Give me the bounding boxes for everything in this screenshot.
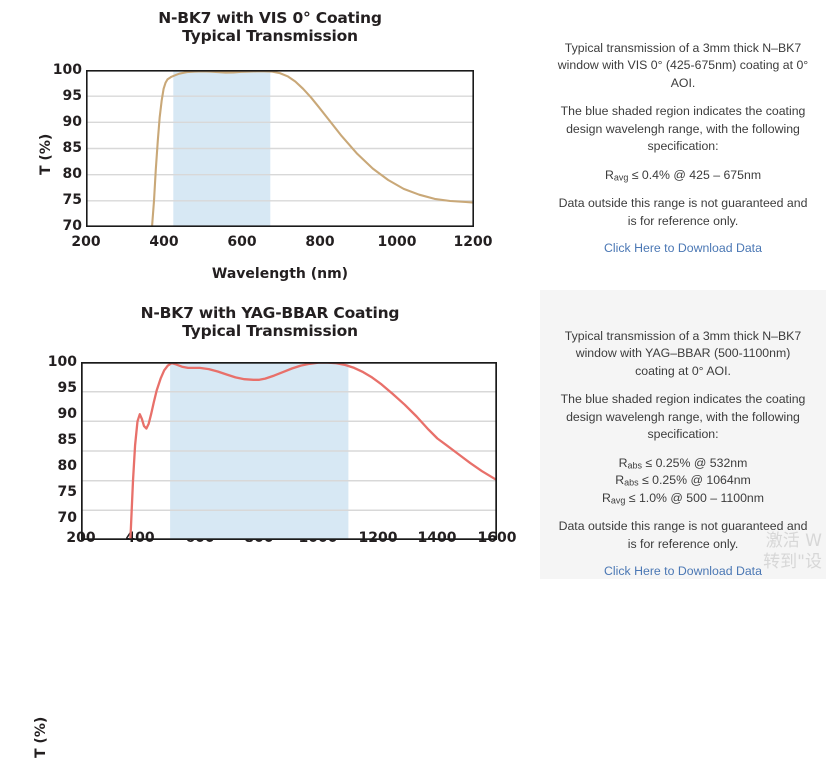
plot-area-yag bbox=[81, 362, 497, 540]
y-tick-70: 70 bbox=[45, 510, 77, 526]
spec-item: Rabs ≤ 0.25% @ 1064nm bbox=[602, 472, 764, 489]
info-paragraph-3-yag: Data outside this range is not guarantee… bbox=[556, 518, 810, 553]
spec-item: Ravg ≤ 1.0% @ 500 – 1100nm bbox=[602, 490, 764, 507]
download-data-link-vis[interactable]: Click Here to Download Data bbox=[604, 241, 762, 255]
y-tick-85: 85 bbox=[50, 140, 82, 156]
x-tick-600: 600 bbox=[216, 234, 268, 250]
plot-area-vis bbox=[86, 70, 474, 227]
spec-value: ≤ 1.0% @ 500 – 1100nm bbox=[625, 491, 764, 505]
chart-title-line1: N-BK7 with VIS 0° Coating bbox=[0, 10, 540, 28]
y-tick-90: 90 bbox=[45, 406, 77, 422]
spec-subscript: abs bbox=[627, 460, 642, 470]
y-tick-75: 75 bbox=[50, 192, 82, 208]
chart-title-line1: N-BK7 with YAG-BBAR Coating bbox=[0, 305, 540, 323]
x-tick-1200: 1200 bbox=[447, 234, 499, 250]
spec-list-vis: Ravg ≤ 0.4% @ 425 – 675nm bbox=[605, 167, 761, 184]
x-tick-400: 400 bbox=[138, 234, 190, 250]
spec-value: ≤ 0.4% @ 425 – 675nm bbox=[628, 168, 761, 182]
chart-title-yag: N-BK7 with YAG-BBAR Coating Typical Tran… bbox=[0, 305, 540, 341]
y-tick-85: 85 bbox=[45, 432, 77, 448]
info-panel-vis: Typical transmission of a 3mm thick N–BK… bbox=[540, 0, 826, 290]
panel-yag-bbar-coating: N-BK7 with YAG-BBAR Coating Typical Tran… bbox=[0, 290, 826, 579]
y-tick-80: 80 bbox=[50, 166, 82, 182]
spec-symbol: R bbox=[605, 168, 614, 182]
transmission-charts-page: N-BK7 with VIS 0° Coating Typical Transm… bbox=[0, 0, 826, 579]
panel-vis-coating: N-BK7 with VIS 0° Coating Typical Transm… bbox=[0, 0, 826, 290]
chart-title-line2: Typical Transmission bbox=[0, 323, 540, 341]
spec-symbol: R bbox=[615, 473, 624, 487]
watermark-line2: 转到"设 bbox=[763, 552, 822, 572]
gridlines-vis bbox=[86, 96, 474, 201]
y-tick-100: 100 bbox=[45, 354, 77, 370]
chart-yag-bbar: N-BK7 with YAG-BBAR Coating Typical Tran… bbox=[0, 290, 540, 579]
info-paragraph-2-vis: The blue shaded region indicates the coa… bbox=[556, 103, 810, 155]
spec-item: Ravg ≤ 0.4% @ 425 – 675nm bbox=[605, 167, 761, 184]
download-data-link-yag[interactable]: Click Here to Download Data bbox=[604, 564, 762, 578]
y-axis-label-yag: T (%) bbox=[33, 717, 49, 758]
spec-subscript: abs bbox=[624, 478, 639, 488]
y-tick-80: 80 bbox=[45, 458, 77, 474]
y-tick-70: 70 bbox=[50, 218, 82, 234]
x-tick-800: 800 bbox=[294, 234, 346, 250]
chart-title-line2: Typical Transmission bbox=[0, 28, 540, 46]
info-panel-yag: Typical transmission of a 3mm thick N–BK… bbox=[540, 290, 826, 579]
spec-list-yag: Rabs ≤ 0.25% @ 532nm Rabs ≤ 0.25% @ 1064… bbox=[602, 455, 764, 507]
info-paragraph-1-vis: Typical transmission of a 3mm thick N–BK… bbox=[556, 40, 810, 92]
spec-item: Rabs ≤ 0.25% @ 532nm bbox=[602, 455, 764, 472]
y-tick-95: 95 bbox=[45, 380, 77, 396]
x-tick-1000: 1000 bbox=[371, 234, 423, 250]
chart-vis-coating: N-BK7 with VIS 0° Coating Typical Transm… bbox=[0, 0, 540, 290]
info-paragraph-3-vis: Data outside this range is not guarantee… bbox=[556, 195, 810, 230]
spec-value: ≤ 0.25% @ 1064nm bbox=[639, 473, 751, 487]
y-tick-75: 75 bbox=[45, 484, 77, 500]
y-tick-90: 90 bbox=[50, 114, 82, 130]
y-tick-100: 100 bbox=[50, 62, 82, 78]
y-tick-95: 95 bbox=[50, 88, 82, 104]
info-paragraph-1-yag: Typical transmission of a 3mm thick N–BK… bbox=[556, 328, 810, 380]
spec-subscript: avg bbox=[614, 172, 629, 182]
x-axis-label-vis: Wavelength (nm) bbox=[86, 266, 474, 282]
info-paragraph-2-yag: The blue shaded region indicates the coa… bbox=[556, 391, 810, 443]
x-tick-200: 200 bbox=[60, 234, 112, 250]
chart-title-vis: N-BK7 with VIS 0° Coating Typical Transm… bbox=[0, 10, 540, 46]
spec-value: ≤ 0.25% @ 532nm bbox=[642, 456, 747, 470]
spec-subscript: avg bbox=[611, 495, 626, 505]
spec-symbol: R bbox=[602, 491, 611, 505]
